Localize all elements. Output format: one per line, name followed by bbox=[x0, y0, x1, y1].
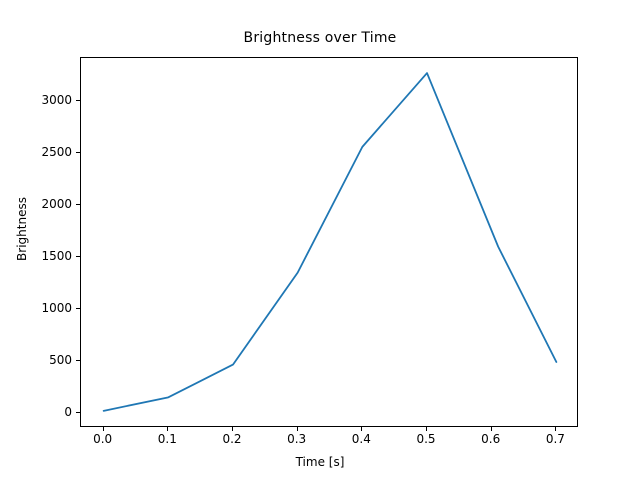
x-axis-tick-labels: 0.00.10.20.30.40.50.60.7 bbox=[0, 432, 640, 450]
y-tick-label: 0 bbox=[64, 405, 72, 419]
y-tick-label: 500 bbox=[49, 353, 72, 367]
x-tick-mark bbox=[555, 427, 556, 431]
y-axis-label: Brightness bbox=[15, 169, 29, 289]
x-tick-mark bbox=[167, 427, 168, 431]
x-tick-label: 0.2 bbox=[222, 432, 241, 446]
chart-title: Brightness over Time bbox=[0, 30, 640, 46]
y-tick-mark bbox=[76, 360, 80, 361]
y-tick-label: 2500 bbox=[41, 145, 72, 159]
x-tick-label: 0.6 bbox=[481, 432, 500, 446]
x-tick-mark bbox=[103, 427, 104, 431]
x-tick-label: 0.5 bbox=[416, 432, 435, 446]
plot-area bbox=[80, 57, 578, 427]
y-tick-mark bbox=[76, 152, 80, 153]
x-tick-label: 0.1 bbox=[158, 432, 177, 446]
y-tick-mark bbox=[76, 100, 80, 101]
y-axis-tick-labels: 050010001500200025003000 bbox=[0, 0, 72, 480]
y-tick-mark bbox=[76, 308, 80, 309]
y-tick-label: 2000 bbox=[41, 197, 72, 211]
y-tick-mark bbox=[76, 412, 80, 413]
y-tick-mark bbox=[76, 256, 80, 257]
y-tick-label: 1500 bbox=[41, 249, 72, 263]
x-tick-label: 0.7 bbox=[546, 432, 565, 446]
line-series-brightness bbox=[81, 58, 579, 428]
x-tick-mark bbox=[361, 427, 362, 431]
x-tick-mark bbox=[297, 427, 298, 431]
y-tick-label: 1000 bbox=[41, 301, 72, 315]
x-tick-label: 0.3 bbox=[287, 432, 306, 446]
x-tick-mark bbox=[232, 427, 233, 431]
y-tick-label: 3000 bbox=[41, 93, 72, 107]
x-axis-label: Time [s] bbox=[0, 455, 640, 469]
x-tick-label: 0.0 bbox=[93, 432, 112, 446]
x-tick-mark bbox=[426, 427, 427, 431]
chart-figure: Brightness over Time 0500100015002000250… bbox=[0, 0, 640, 480]
x-tick-mark bbox=[491, 427, 492, 431]
y-tick-mark bbox=[76, 204, 80, 205]
series-polyline bbox=[104, 73, 557, 411]
x-tick-label: 0.4 bbox=[352, 432, 371, 446]
